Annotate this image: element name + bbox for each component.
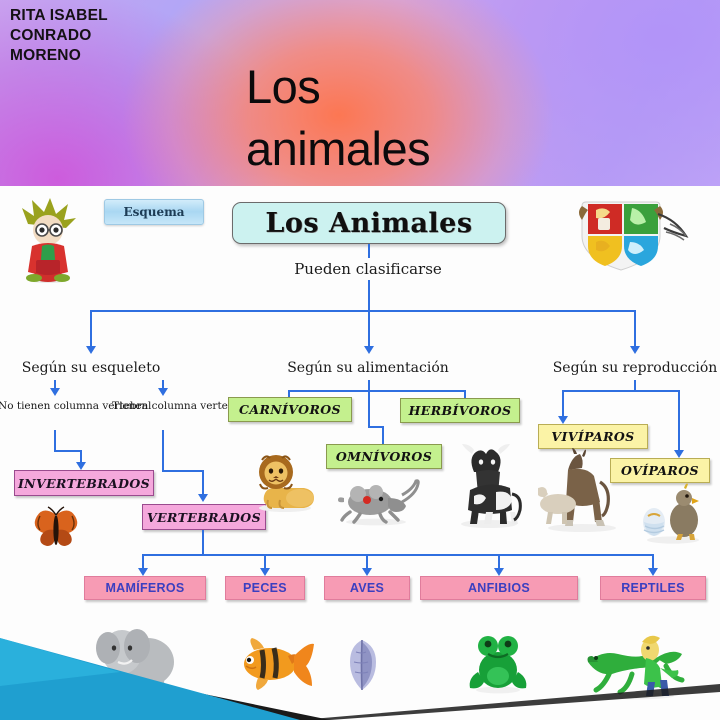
arrow-skeleton-right	[158, 388, 168, 396]
esquema-badge: Esquema	[104, 199, 204, 225]
elephant-icon	[96, 618, 190, 702]
butterfly-icon	[32, 506, 80, 550]
hogwarts-crest-icon	[572, 196, 694, 274]
connector-groups-bar	[142, 554, 654, 556]
connector-feeding-bar	[288, 390, 466, 392]
node-aves: AVES	[324, 576, 410, 600]
lion-icon	[252, 450, 318, 512]
node-invertebrados: INVERTEBRADOS	[14, 470, 154, 496]
connector-vert-v	[162, 430, 164, 472]
lizard-icon	[586, 628, 686, 700]
node-herbivoros: HERBÍVOROS	[400, 398, 520, 423]
arrow-mamiferos	[138, 568, 148, 576]
author-line-1: RITA ISABEL	[10, 6, 108, 26]
connector-drop-feeding	[368, 310, 370, 348]
node-carnivoros: CARNÍVOROS	[228, 397, 352, 422]
node-anfibios: ANFIBIOS	[420, 576, 578, 600]
connector-omnivoros-v2	[382, 426, 384, 446]
author-line-2: CONRADO	[10, 26, 108, 46]
arrow-skeleton	[86, 346, 96, 354]
arrow-viviparos	[558, 416, 568, 424]
connector-repro-bar	[562, 390, 680, 392]
branch-label-skeleton: Según su esqueleto	[10, 360, 172, 376]
arrow-feeding	[364, 346, 374, 354]
author-line-3: MORENO	[10, 46, 108, 66]
arrow-skeleton-left	[50, 388, 60, 396]
arrow-reproduction	[630, 346, 640, 354]
arrow-reptiles	[648, 568, 658, 576]
arrow-vertebrados	[198, 494, 208, 502]
node-mamiferos: MAMÍFEROS	[84, 576, 206, 600]
page-title-line-1: Los	[246, 56, 706, 118]
connector-omnivoros-v	[368, 390, 370, 428]
note-no-spine: No tienen columna vertebral	[0, 400, 110, 413]
boy-reading-icon	[12, 194, 84, 284]
node-viviparos: VIVÍPAROS	[538, 424, 648, 449]
arrow-aves	[362, 568, 372, 576]
arrow-oviparos	[674, 450, 684, 458]
connector-inv-v	[54, 430, 56, 452]
connector-vert-h	[162, 470, 204, 472]
connector-branch-bar	[90, 310, 636, 312]
bird-and-egg-icon	[640, 482, 706, 544]
branch-label-reproduction: Según su reproducción	[540, 360, 720, 376]
node-peces: PECES	[225, 576, 305, 600]
node-vertebrados: VERTEBRADOS	[142, 504, 266, 530]
connector-drop-reproduction	[634, 310, 636, 348]
node-reptiles: REPTILES	[600, 576, 706, 600]
arrow-peces	[260, 568, 270, 576]
horse-and-foal-icon	[538, 448, 624, 532]
concept-map: Esquema Los Animales Pueden clasificarse…	[0, 186, 720, 720]
arrow-invertebrados	[76, 462, 86, 470]
slide-root: RITA ISABEL CONRADO MORENO Los animales	[0, 0, 720, 720]
connector-viviparos	[562, 390, 564, 418]
branch-label-feeding: Según su alimentación	[278, 360, 458, 376]
frog-icon	[466, 632, 530, 694]
author-name: RITA ISABEL CONRADO MORENO	[10, 6, 108, 66]
page-title-line-2: animales	[246, 118, 706, 180]
connector-title-subtitle	[368, 244, 370, 258]
diagram-subtitle: Pueden clasificarse	[268, 260, 468, 278]
connector-trunk	[368, 280, 370, 310]
node-omnivoros: OMNÍVOROS	[326, 444, 442, 469]
cow-icon	[452, 442, 526, 528]
node-oviparos: OVÍPAROS	[610, 458, 710, 483]
page-title: Los animales	[246, 56, 706, 180]
note-has-spine: Tienen columna vertebral	[112, 400, 212, 413]
diagram-title-box: Los Animales	[232, 202, 506, 244]
mouse-icon	[336, 476, 422, 526]
arrow-anfibios	[494, 568, 504, 576]
connector-vert-v2	[202, 470, 204, 496]
feather-icon	[340, 634, 390, 692]
connector-oviparos	[678, 390, 680, 452]
connector-drop-skeleton	[90, 310, 92, 348]
connector-inv-h	[54, 450, 82, 452]
goldfish-icon	[236, 636, 316, 692]
slide-header: RITA ISABEL CONRADO MORENO Los animales	[0, 0, 720, 186]
connector-groups-stem	[202, 530, 204, 556]
